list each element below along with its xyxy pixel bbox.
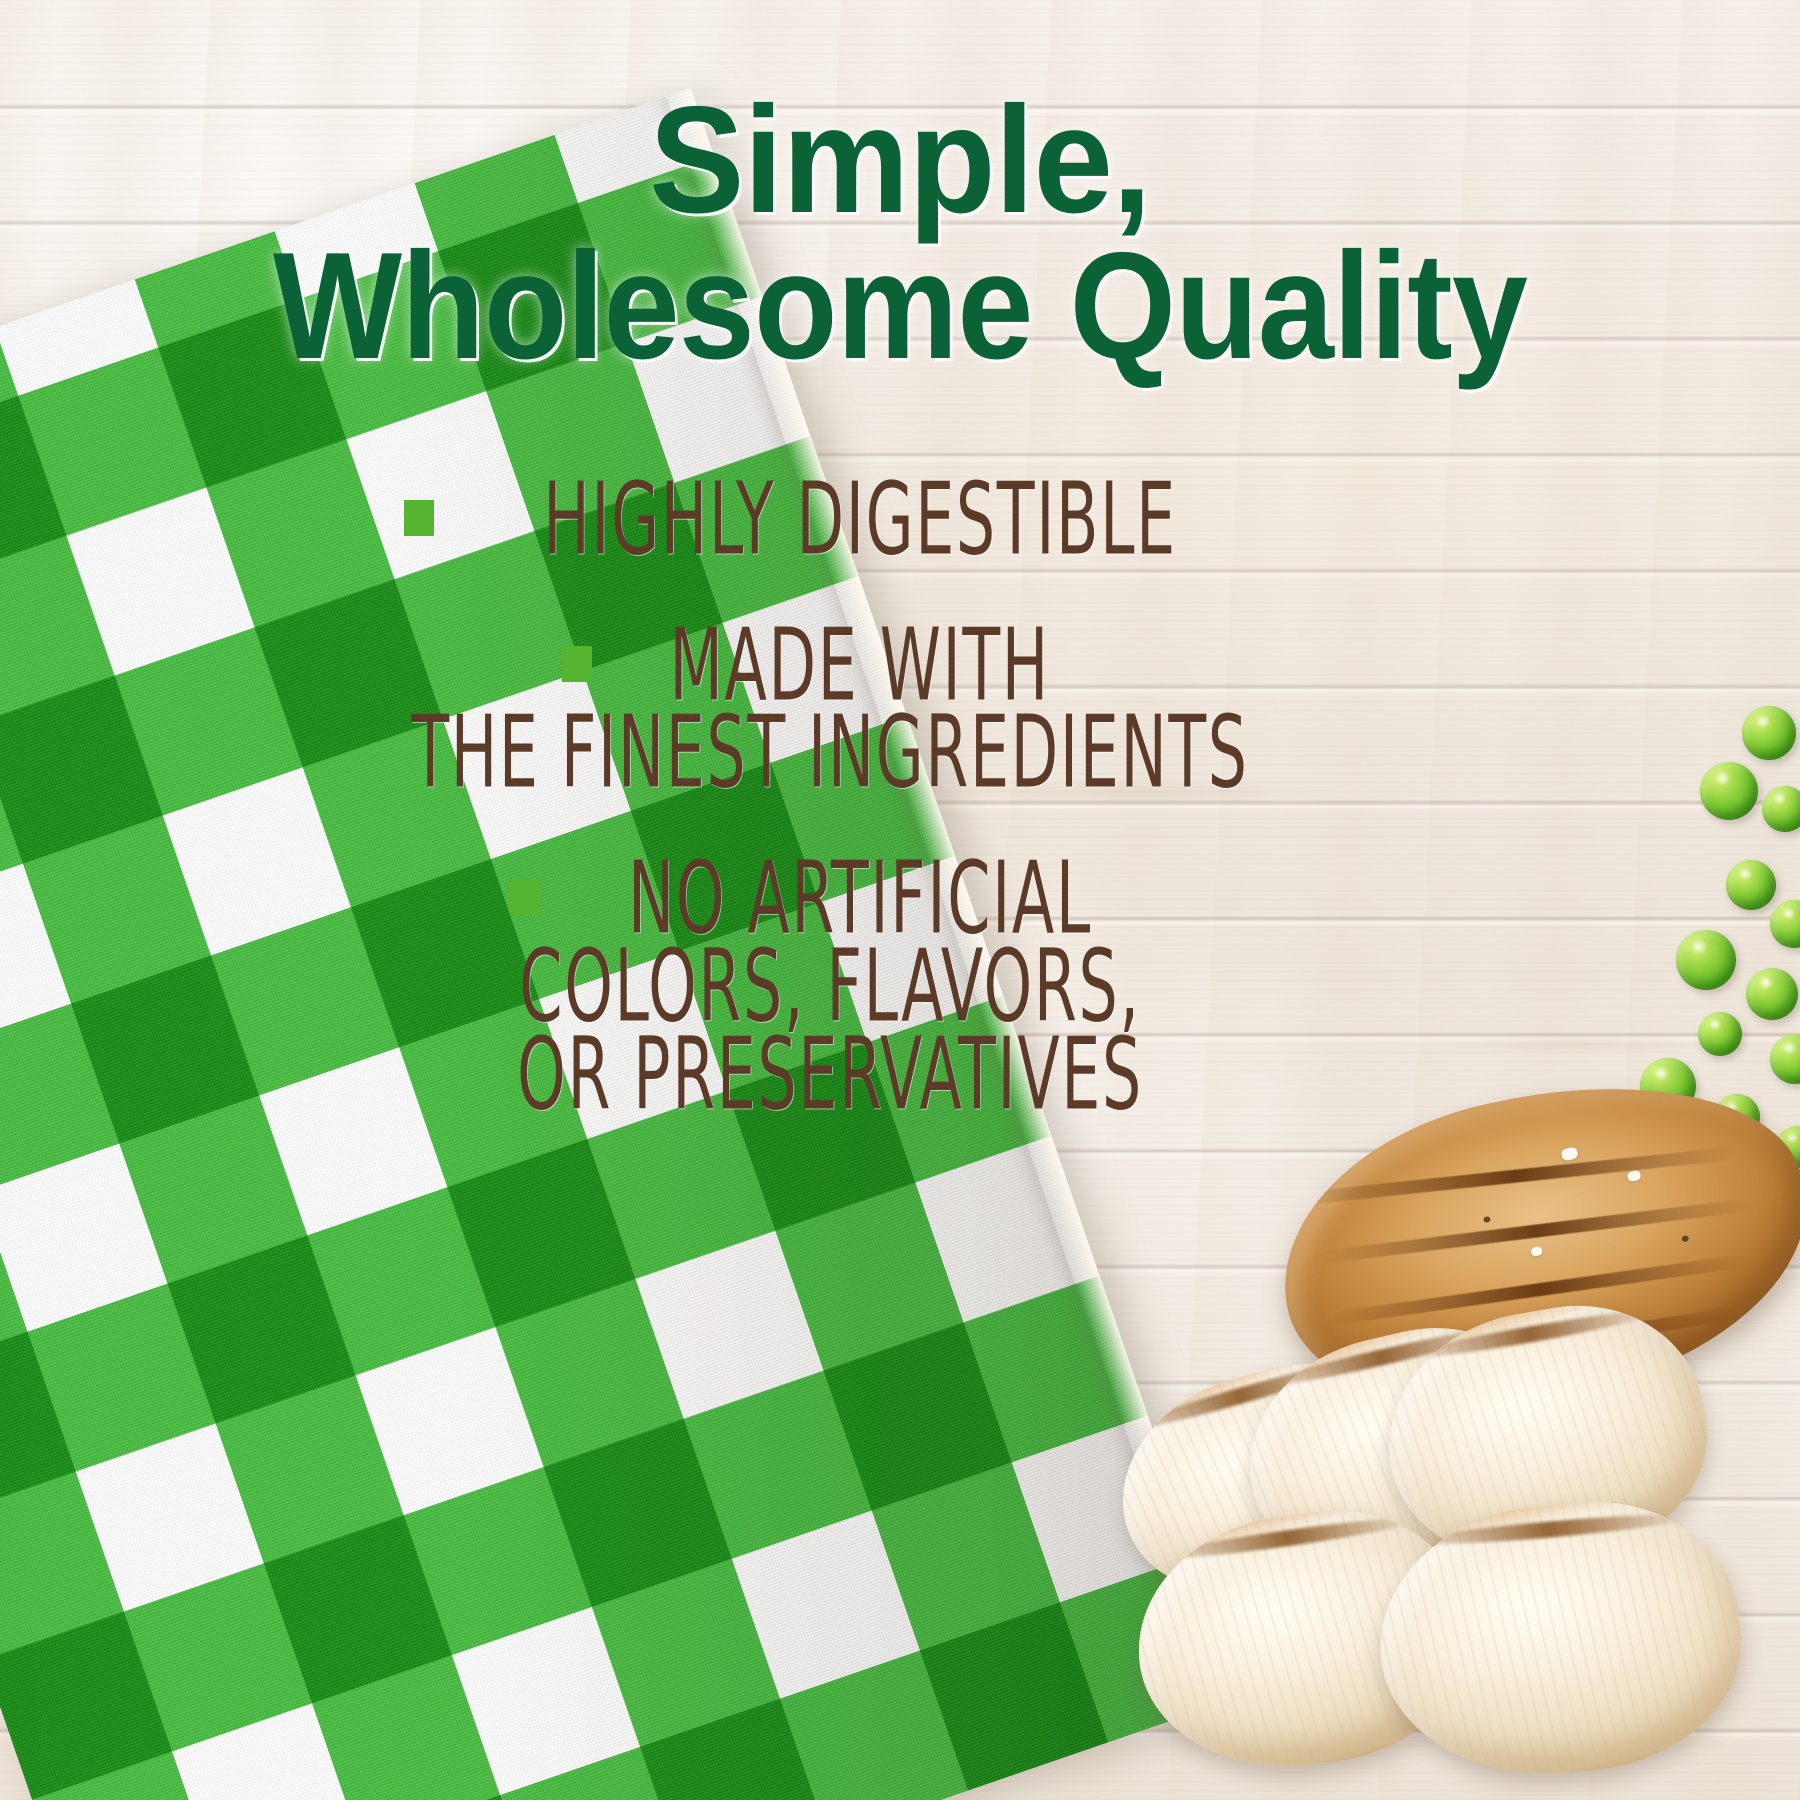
benefit-2-line-2: THE FINEST INGREDIENTS <box>406 703 1254 805</box>
pea <box>1698 1012 1742 1056</box>
marketing-banner: Simple, Wholesome Quality HIGHLY DIGESTI… <box>0 0 1800 1800</box>
benefit-item-2: MADE WITH THE FINEST INGREDIENTS <box>300 616 1360 791</box>
headline: Simple, Wholesome Quality <box>0 88 1800 380</box>
pea <box>1676 930 1736 990</box>
pea <box>1700 762 1758 820</box>
bullet-square-icon <box>562 646 592 682</box>
benefit-1-line-1: HIGHLY DIGESTIBLE <box>543 470 1177 572</box>
benefit-item-3: NO ARTIFICIAL COLORS, FLAVORS, OR PRESER… <box>300 849 1360 1112</box>
headline-line-2: Wholesome Quality <box>90 234 1710 380</box>
benefits-list: HIGHLY DIGESTIBLE MADE WITH THE FINEST I… <box>300 470 1360 1170</box>
bullet-square-icon <box>510 879 540 915</box>
benefit-3-line-3: OR PRESERVATIVES <box>406 1025 1254 1127</box>
headline-line-1: Simple, <box>54 88 1746 234</box>
bullet-square-icon <box>404 500 434 536</box>
grilled-chicken <box>1130 1085 1800 1800</box>
pea <box>1742 706 1796 760</box>
pea <box>1746 968 1798 1020</box>
pea <box>1762 786 1800 832</box>
chicken-slice <box>1369 1490 1751 1788</box>
pea <box>1726 860 1776 910</box>
benefit-item-1: HIGHLY DIGESTIBLE <box>300 470 1360 558</box>
